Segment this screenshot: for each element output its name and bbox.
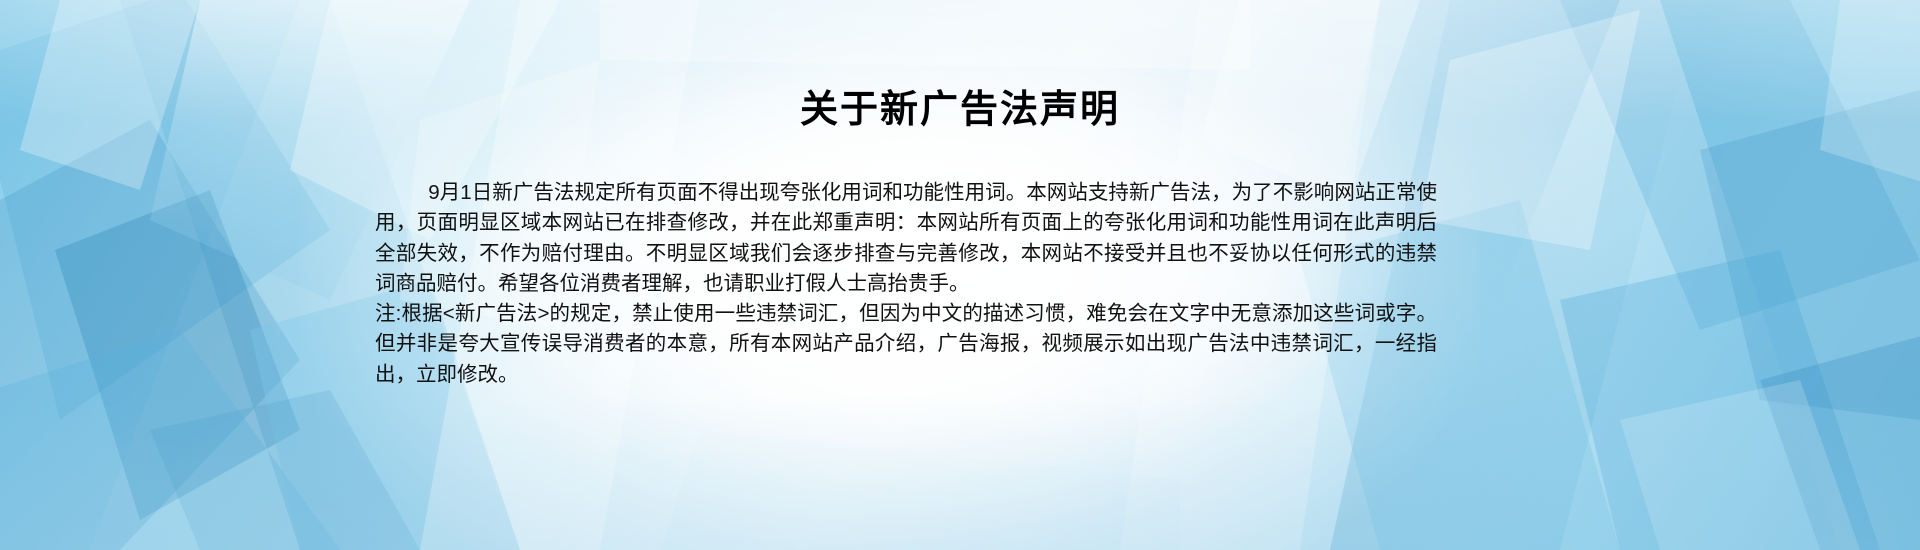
statement-content: 关于新广告法声明 9月1日新广告法规定所有页面不得出现夸张化用词和功能性用词。本… xyxy=(0,0,1920,550)
statement-paragraph-1: 9月1日新广告法规定所有页面不得出现夸张化用词和功能性用词。本网站支持新广告法，… xyxy=(375,178,1437,299)
page-title: 关于新广告法声明 xyxy=(0,88,1920,132)
statement-body: 9月1日新广告法规定所有页面不得出现夸张化用词和功能性用词。本网站支持新广告法，… xyxy=(375,178,1437,390)
statement-paragraph-2: 注:根据<新广告法>的规定，禁止使用一些违禁词汇，但因为中文的描述习惯，难免会在… xyxy=(375,299,1437,390)
advertising-law-statement-banner: 关于新广告法声明 9月1日新广告法规定所有页面不得出现夸张化用词和功能性用词。本… xyxy=(0,0,1920,550)
